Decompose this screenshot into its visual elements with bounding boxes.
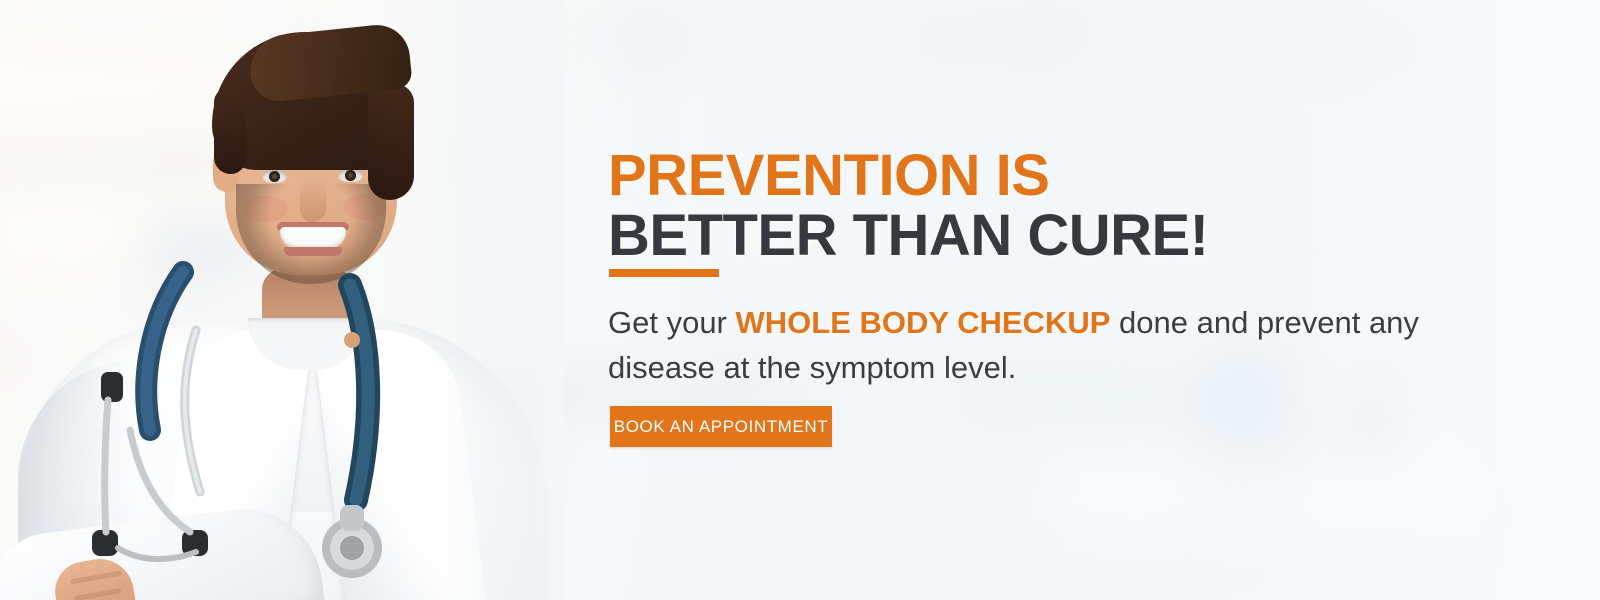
subtitle-highlight: WHOLE BODY CHECKUP (736, 305, 1111, 340)
book-appointment-button[interactable]: BOOK AN APPOINTMENT (610, 406, 832, 447)
page-title: PREVENTION IS BETTER THAN CURE! (608, 146, 1208, 266)
headline-line-2: BETTER THAN CURE! (608, 206, 1208, 266)
hero-banner: PREVENTION IS BETTER THAN CURE! Get your… (0, 0, 1600, 600)
subtitle-text-before: Get your (608, 305, 736, 340)
hero-content: PREVENTION IS BETTER THAN CURE! Get your… (608, 0, 1508, 600)
doctor-figure (0, 0, 565, 600)
hero-subtitle: Get your WHOLE BODY CHECKUP done and pre… (608, 300, 1508, 390)
accent-divider (609, 269, 719, 277)
photo-edge-fade (415, 0, 565, 600)
headline-line-1: PREVENTION IS (608, 146, 1208, 206)
doctor-photo (0, 0, 565, 600)
